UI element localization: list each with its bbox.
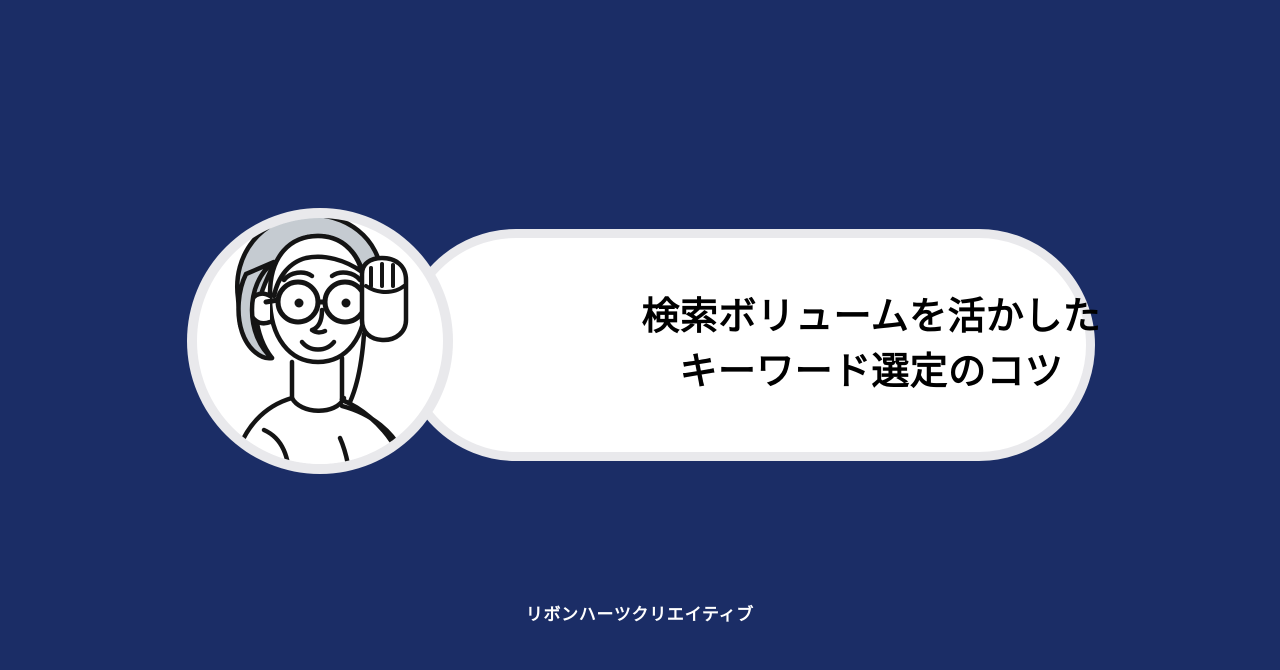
title-block: 検索ボリュームを活かした キーワード選定のコツ (639, 238, 1104, 452)
brand-name: リボンハーツクリエイティブ (526, 605, 754, 624)
person-with-glasses-raised-fist-icon (186, 202, 454, 480)
avatar (186, 202, 454, 480)
glasses-temple-left (266, 300, 278, 302)
title-line-1: 検索ボリュームを活かした (642, 293, 1101, 342)
title-banner: 検索ボリュームを活かした キーワード選定のコツ (400, 229, 1095, 461)
pupil-left (295, 299, 304, 308)
title-line-2: キーワード選定のコツ (680, 348, 1064, 397)
pupil-right (342, 299, 351, 308)
footer: リボンハーツクリエイティブ (0, 600, 1280, 625)
thumbnail-canvas: 検索ボリュームを活かした キーワード選定のコツ (0, 0, 1280, 670)
